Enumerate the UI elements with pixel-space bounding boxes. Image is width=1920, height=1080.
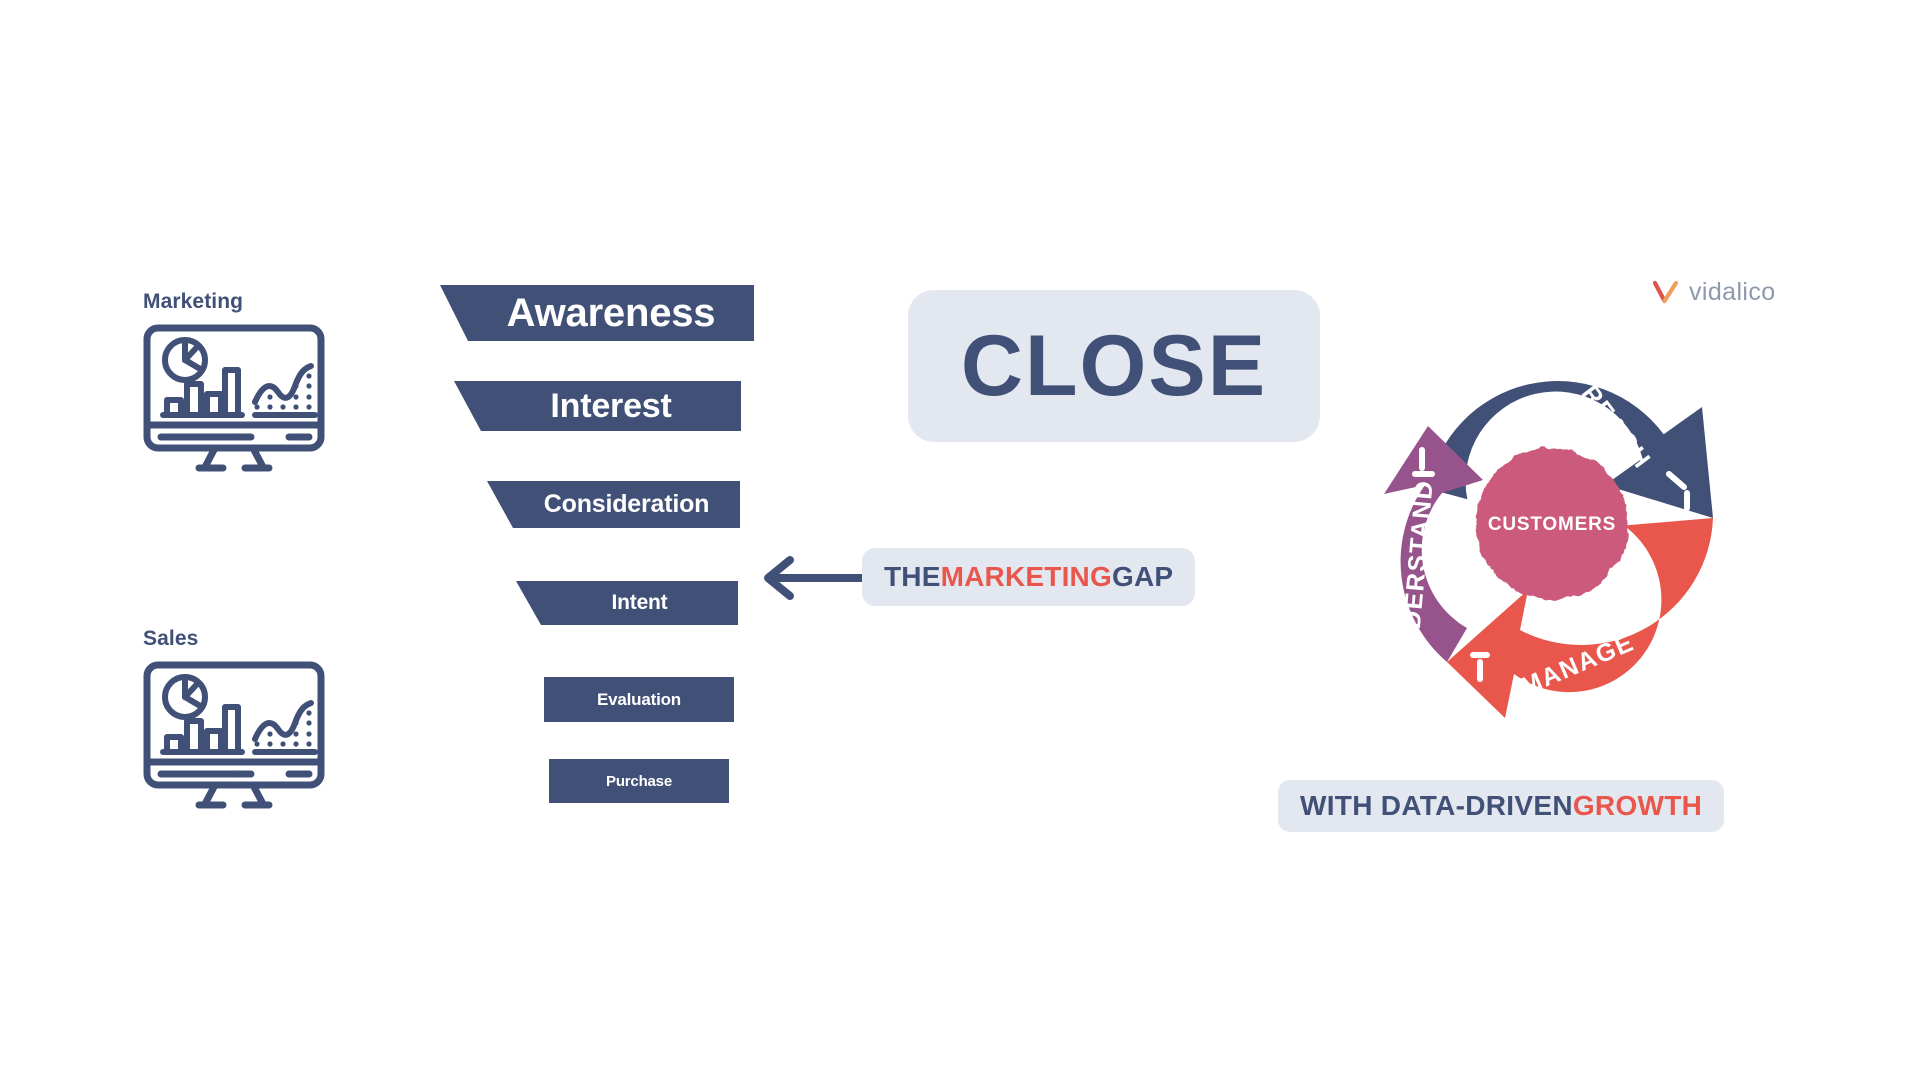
gap-accent: MARKETING: [941, 561, 1112, 593]
monitor-analytics-icon: [143, 324, 325, 472]
cycle-center: CUSTOMERS: [1476, 448, 1628, 600]
funnel-stage-interest[interactable]: Interest: [454, 381, 741, 431]
v-checkmark-icon: [1652, 280, 1680, 306]
sales-card-label: Sales: [143, 627, 325, 651]
funnel-stage-label: Awareness: [440, 285, 754, 341]
marketing-gap-callout: THE MARKETING GAP: [862, 548, 1195, 606]
customer-growth-cycle: REACH MANAGE UNDERSTAND CUSTOMERS: [1362, 322, 1742, 742]
funnel-stage-consideration[interactable]: Consideration: [487, 481, 740, 528]
funnel-stage-label: Purchase: [549, 759, 729, 803]
vidalico-wordmark: vidalico: [1689, 278, 1776, 307]
cycle-segment-understand[interactable]: UNDERSTAND: [1384, 426, 1483, 669]
funnel-stage-label: Consideration: [487, 481, 740, 528]
gap-prefix: THE: [884, 561, 941, 593]
close-badge: CLOSE: [908, 290, 1320, 442]
funnel-stage-intent[interactable]: Intent: [516, 581, 738, 625]
monitor-analytics-icon: [143, 661, 325, 809]
funnel-stage-label: Intent: [516, 581, 738, 625]
marketing-card: Marketing: [143, 290, 325, 472]
sales-card: Sales: [143, 627, 325, 809]
vidalico-logo[interactable]: vidalico: [1652, 278, 1776, 307]
funnel-stage-evaluation[interactable]: Evaluation: [544, 677, 734, 722]
funnel-stage-label: Interest: [454, 381, 741, 431]
marketing-card-label: Marketing: [143, 290, 325, 314]
funnel-stage-label: Evaluation: [544, 677, 734, 722]
growth-prefix: WITH DATA-DRIVEN: [1300, 790, 1573, 822]
close-badge-label: CLOSE: [961, 323, 1267, 409]
growth-caption: WITH DATA-DRIVEN GROWTH: [1278, 780, 1724, 832]
cycle-center-label: CUSTOMERS: [1488, 514, 1616, 535]
funnel-stage-purchase[interactable]: Purchase: [549, 759, 729, 803]
arrow-left-icon: [750, 552, 872, 604]
funnel-stage-awareness[interactable]: Awareness: [440, 285, 754, 341]
growth-accent: GROWTH: [1573, 790, 1702, 822]
gap-suffix: GAP: [1112, 561, 1173, 593]
